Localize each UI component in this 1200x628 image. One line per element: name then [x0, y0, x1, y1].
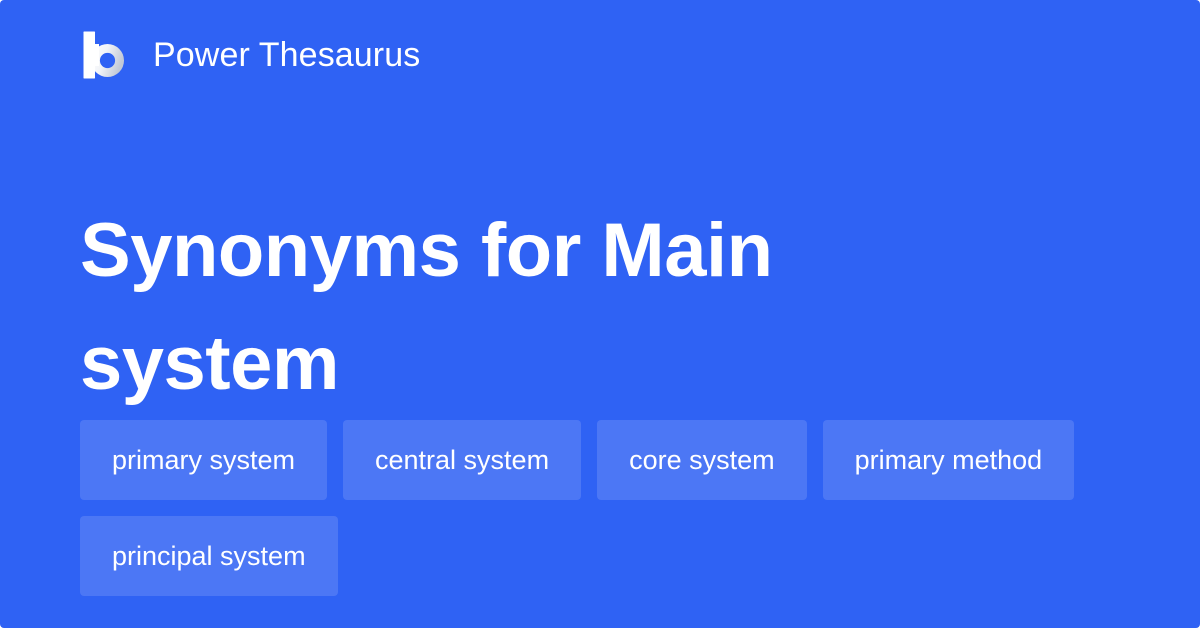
synonym-chip[interactable]: central system: [343, 420, 581, 500]
page-title: Synonyms for Main system: [80, 194, 940, 420]
synonym-chip[interactable]: primary system: [80, 420, 327, 500]
synonym-chip[interactable]: principal system: [80, 516, 338, 596]
synonyms-share-card: Power Thesaurus Synonyms for Main system…: [0, 0, 1200, 628]
power-thesaurus-b-logo-icon: [80, 30, 130, 80]
synonym-chip[interactable]: core system: [597, 420, 807, 500]
synonym-chip-list: primary system central system core syste…: [80, 420, 1120, 596]
brand-name: Power Thesaurus: [153, 38, 420, 72]
synonym-chip[interactable]: primary method: [823, 420, 1075, 500]
brand-logo-link[interactable]: Power Thesaurus: [80, 27, 420, 83]
